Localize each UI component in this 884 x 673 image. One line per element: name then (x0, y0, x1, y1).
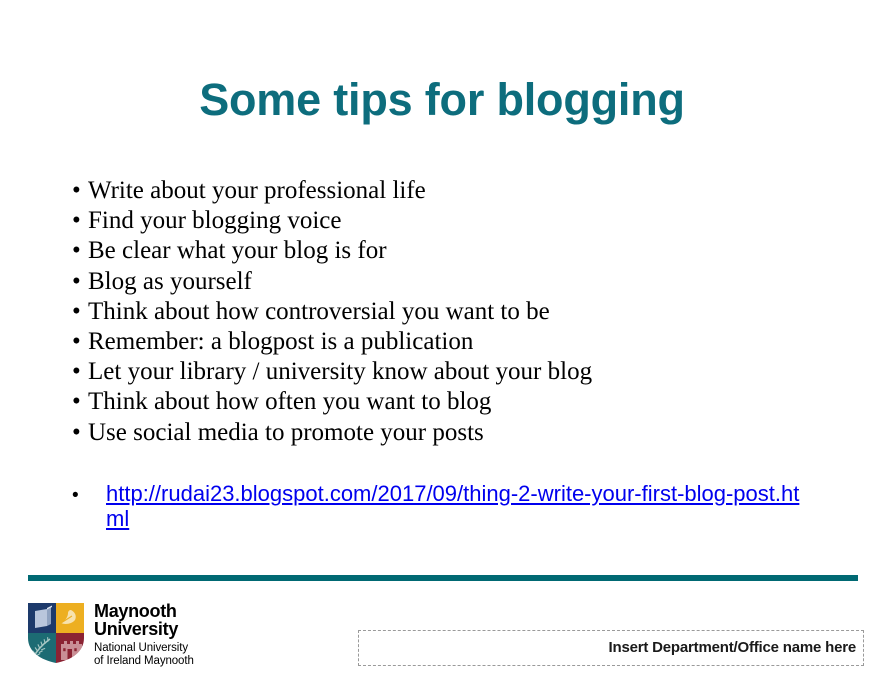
list-item: • Think about how controversial you want… (72, 297, 812, 327)
list-item-label: Find your blogging voice (88, 207, 341, 234)
bullet-icon: • (72, 206, 81, 236)
maynooth-shield-icon (27, 602, 85, 664)
bullet-icon: • (72, 297, 81, 327)
list-item: • Write about your professional life (72, 176, 812, 206)
list-item-label: Blog as yourself (88, 268, 252, 295)
bullet-icon: • (72, 357, 81, 387)
footer-divider (28, 575, 858, 581)
list-item-label: Remember: a blogpost is a publication (88, 328, 473, 355)
logo-wordmark: Maynooth University National University … (94, 602, 194, 668)
bullet-icon: • (72, 267, 81, 297)
bullet-icon: • (72, 483, 79, 509)
department-placeholder-text: Insert Department/Office name here (609, 639, 863, 657)
slide-canvas: Some tips for blogging • Write about you… (0, 0, 884, 673)
list-item: • Be clear what your blog is for (72, 236, 812, 266)
list-item: • Remember: a blogpost is a publication (72, 327, 812, 357)
list-item: • Let your library / university know abo… (72, 357, 812, 387)
page-title: Some tips for blogging (0, 74, 884, 126)
blog-post-link[interactable]: http://rudai23.blogspot.com/2017/09/thin… (106, 481, 812, 531)
list-item: • Blog as yourself (72, 267, 812, 297)
bullet-icon: • (72, 418, 81, 448)
list-item-label: Be clear what your blog is for (88, 237, 387, 264)
list-item-label: Write about your professional life (88, 177, 426, 204)
list-item: • Find your blogging voice (72, 206, 812, 236)
bullet-icon: • (72, 176, 81, 206)
list-item: • Use social media to promote your posts (72, 418, 812, 448)
bullet-icon: • (72, 236, 81, 266)
list-item-label: Let your library / university know about… (88, 358, 592, 385)
logo-subtitle-line-2: of Ireland Maynooth (94, 655, 194, 668)
department-name-textbox[interactable]: Insert Department/Office name here (358, 630, 864, 666)
list-item-label: Think about how controversial you want t… (88, 298, 550, 325)
list-item-label: Use social media to promote your posts (88, 419, 484, 446)
list-item: • Think about how often you want to blog (72, 387, 812, 417)
tips-bullet-list: • Write about your professional life • F… (72, 176, 812, 448)
logo-name-line-2: University (94, 621, 194, 639)
list-item: • http://rudai23.blogspot.com/2017/09/th… (72, 481, 842, 531)
bullet-icon: • (72, 327, 81, 357)
list-item-label: Think about how often you want to blog (88, 388, 491, 415)
link-bullet-block: • http://rudai23.blogspot.com/2017/09/th… (72, 481, 842, 531)
maynooth-university-logo: Maynooth University National University … (27, 602, 194, 668)
bullet-icon: • (72, 387, 81, 417)
logo-name-line-1: Maynooth (94, 603, 194, 621)
logo-subtitle-line-1: National University (94, 642, 194, 655)
